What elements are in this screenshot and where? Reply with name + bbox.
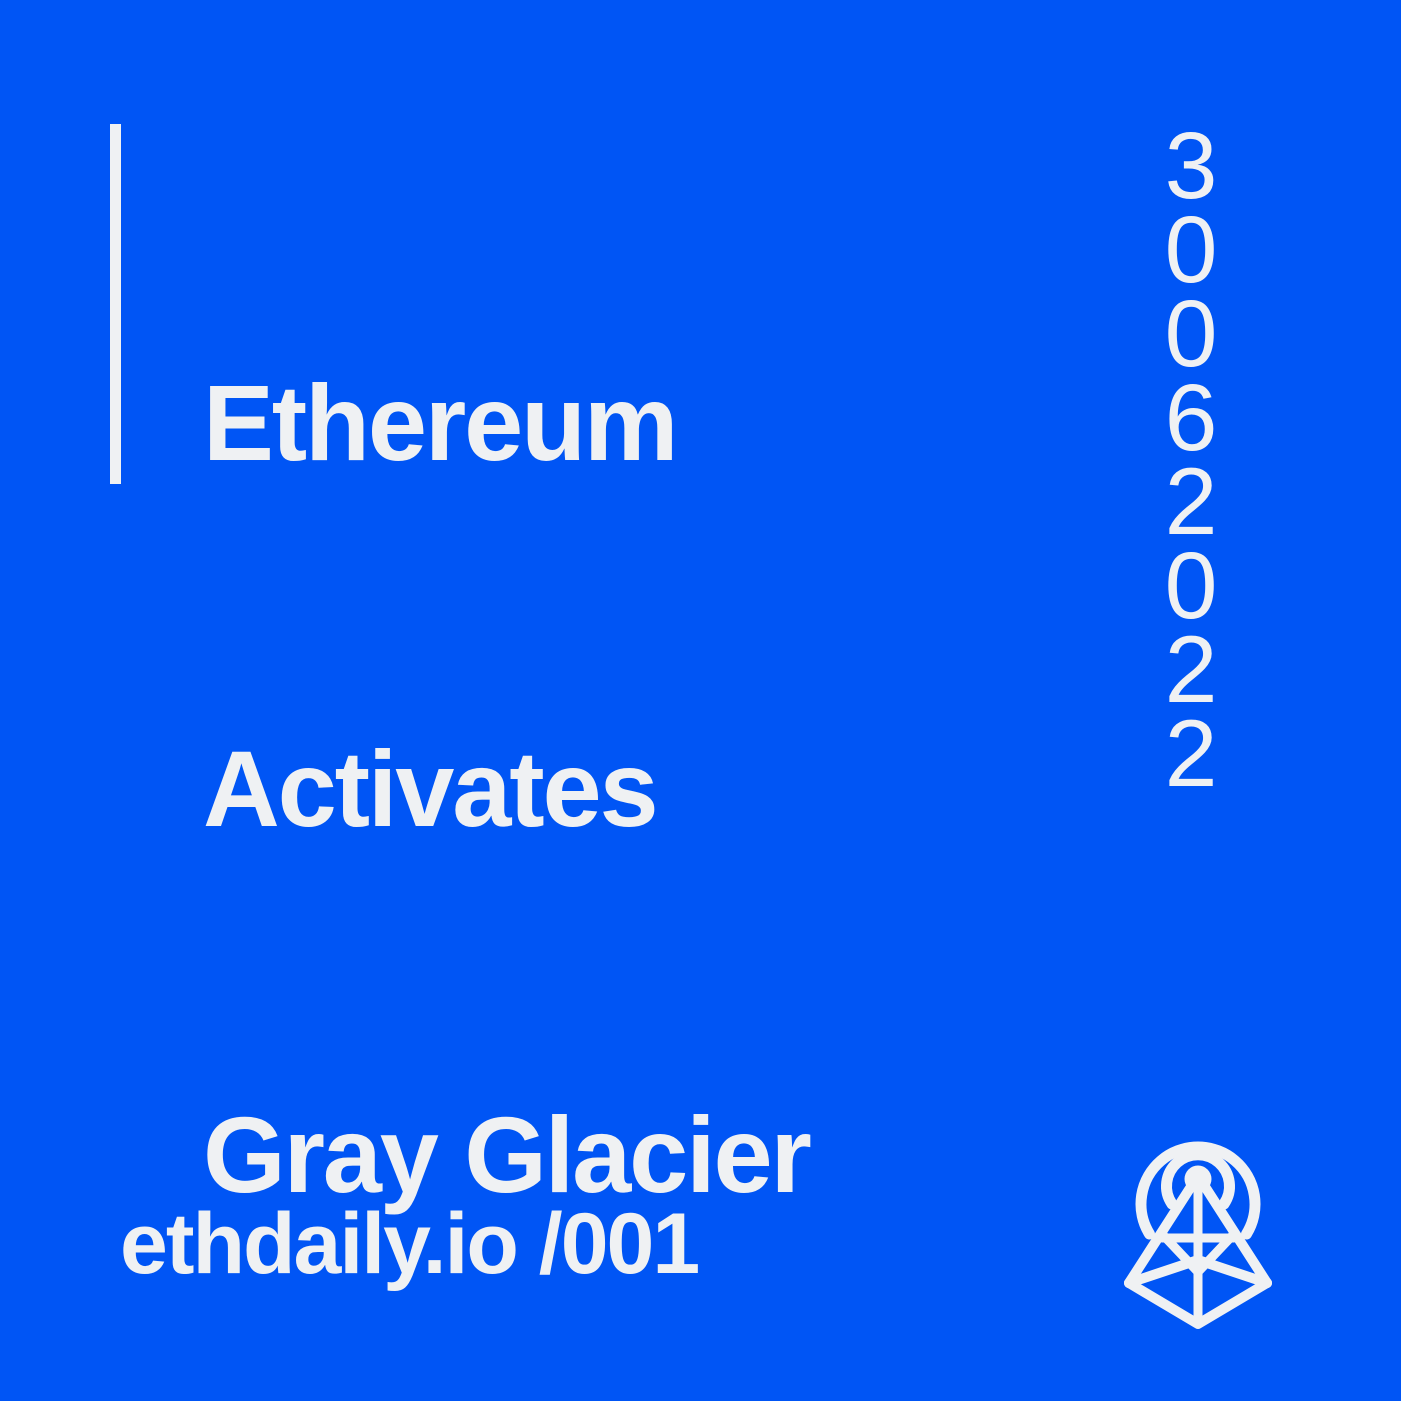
headline-line-2: Activates (203, 728, 810, 850)
date-digit: 6 (1148, 376, 1234, 460)
headline-line-1: Ethereum (203, 362, 810, 484)
date-digit: 2 (1148, 460, 1234, 544)
footer-site-and-issue: ethdaily.io /001 (120, 1196, 698, 1292)
date-digit: 0 (1148, 292, 1234, 376)
date-digit: 0 (1148, 208, 1234, 292)
date-digit: 2 (1148, 628, 1234, 712)
date-digit: 0 (1148, 544, 1234, 628)
ethdaily-news-card: Ethereum Activates Gray Glacier Upgrade … (0, 0, 1401, 1401)
date-stack: 3 0 0 6 2 0 2 2 (1148, 124, 1234, 796)
vertical-rule-divider (110, 124, 121, 484)
broadcast-tower-icon (1118, 1100, 1278, 1332)
date-digit: 2 (1148, 712, 1234, 796)
date-digit: 3 (1148, 124, 1234, 208)
